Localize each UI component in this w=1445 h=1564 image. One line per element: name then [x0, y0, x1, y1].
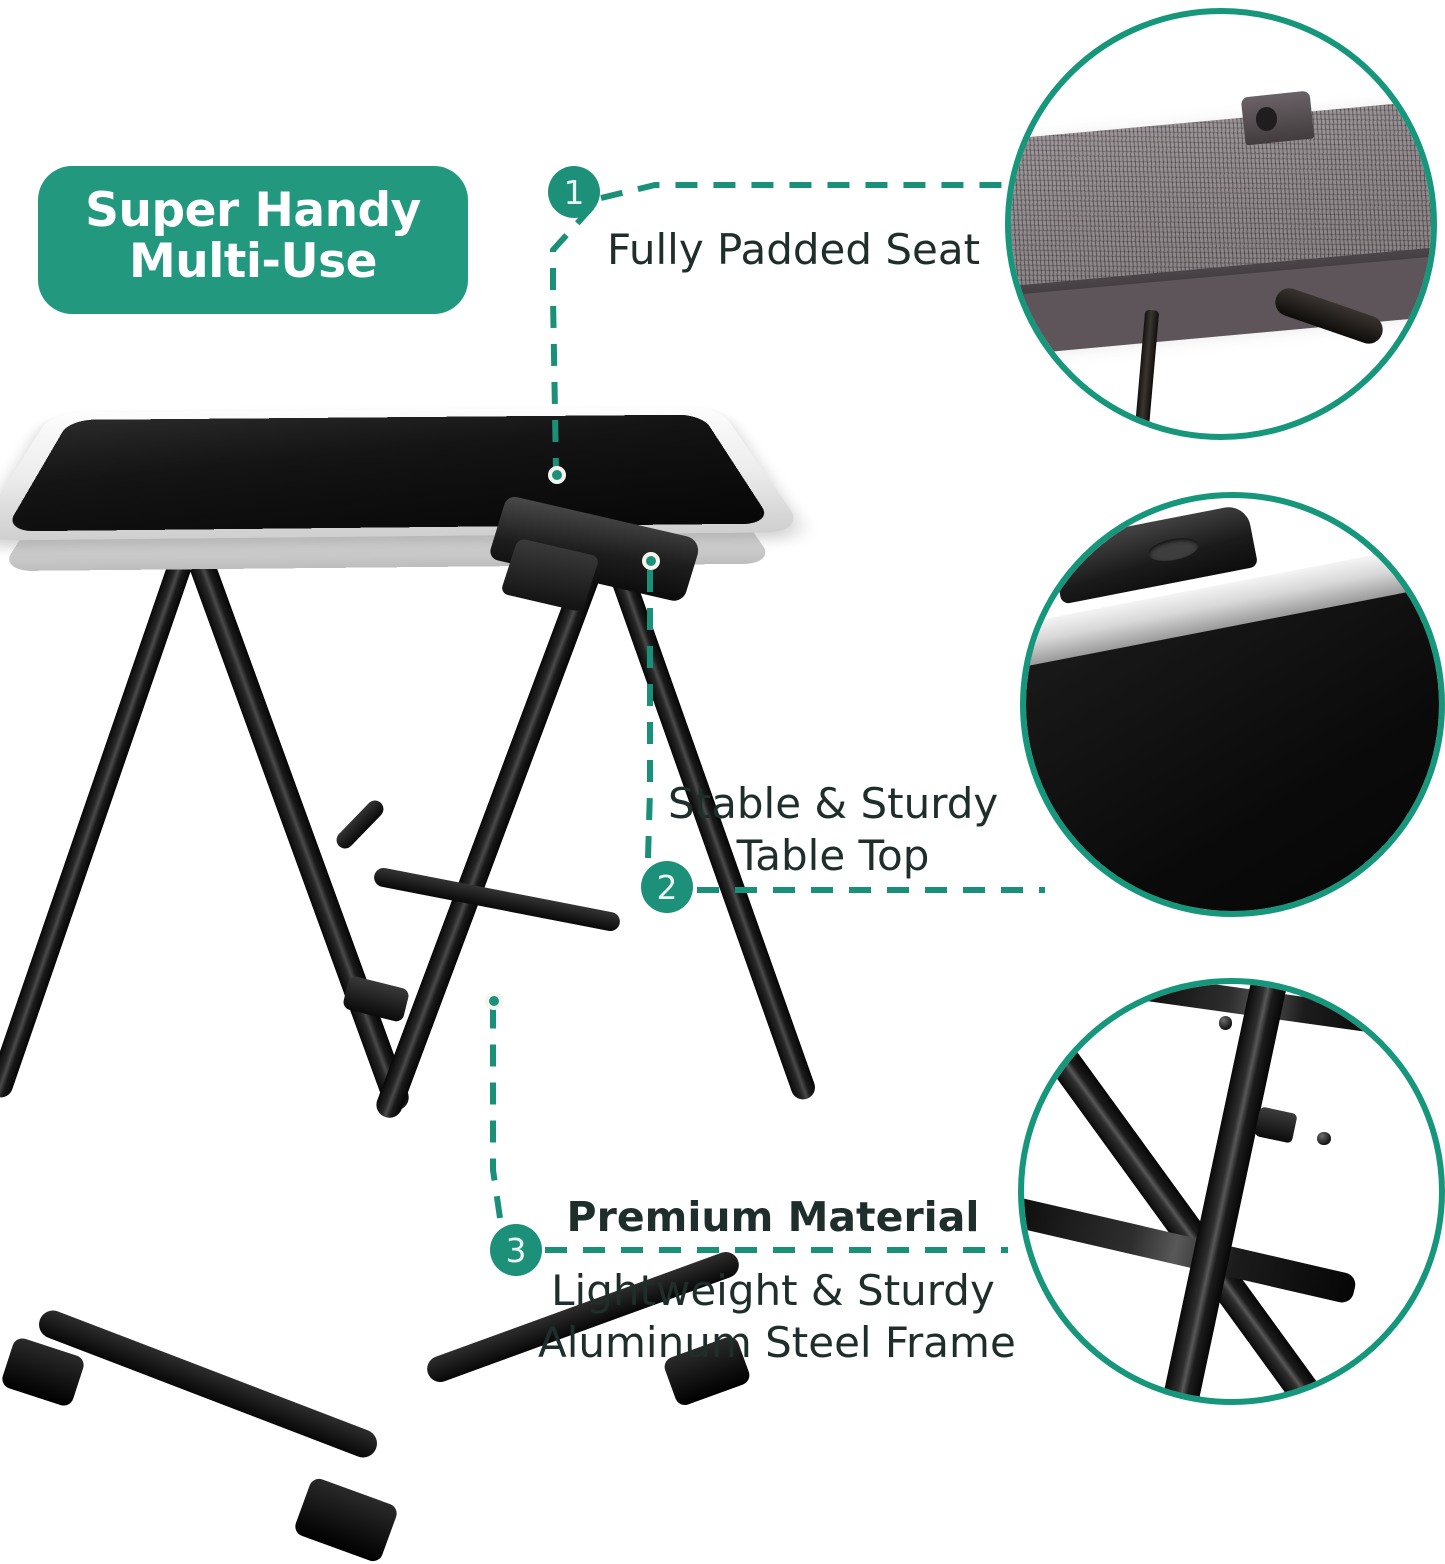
callout-number-3: 3 [490, 1224, 542, 1276]
detail-padded-mesh-seat [1005, 8, 1437, 440]
badge-line-2: Multi-Use [129, 237, 377, 288]
callout-1-line-1: Fully Padded Seat [607, 224, 980, 276]
frame-diagonal-tube [1018, 983, 1323, 1405]
callout-3-heading: Premium Material [538, 1192, 1008, 1243]
super-handy-multi-use-badge: Super Handy Multi-Use [38, 166, 468, 314]
detail-steel-frame-cross [1018, 978, 1445, 1405]
callout-number-1: 1 [548, 166, 600, 218]
frame-foot-bar-left [35, 1306, 381, 1461]
table-top-surface [4, 415, 772, 532]
detail-corner-post [1020, 534, 1038, 612]
detail-black-table-top [1020, 492, 1445, 917]
detail-1-image [1005, 8, 1437, 440]
anchor-dot-2 [642, 552, 660, 570]
callout-2-line-1: Stable & Sturdy [668, 778, 998, 830]
callout-3-line-1: Lightweight & Sturdy [538, 1265, 1008, 1317]
callout-label-2: Stable & Sturdy Table Top [668, 778, 998, 882]
anchor-dot-3 [485, 992, 503, 1010]
mesh-seat-tab [1240, 91, 1314, 145]
frame-clip [1254, 1107, 1298, 1144]
mesh-seat-knob [1256, 107, 1278, 131]
callout-label-3: Premium Material Lightweight & Sturdy Al… [538, 1192, 1008, 1369]
callout-label-1: Fully Padded Seat [607, 224, 980, 276]
callout-2-line-2: Table Top [668, 830, 998, 882]
frame-rivet-top [1219, 1016, 1233, 1030]
connector-1-to-detail [601, 185, 1010, 198]
frame-foot-cap-2 [293, 1476, 400, 1564]
table-top-assembly [0, 330, 800, 660]
detail-2-image [1020, 492, 1445, 917]
frame-cross-brace [372, 866, 621, 932]
callout-3-line-2: Aluminum Steel Frame [538, 1317, 1008, 1369]
frame-cross-brace-2 [333, 797, 387, 852]
anchor-dot-1 [548, 466, 566, 484]
badge-line-1: Super Handy [85, 186, 421, 237]
frame-rivet-mid [1317, 1132, 1331, 1146]
infographic-canvas: Super Handy Multi-Use [0, 0, 1445, 1424]
detail-3-image [1018, 978, 1445, 1405]
